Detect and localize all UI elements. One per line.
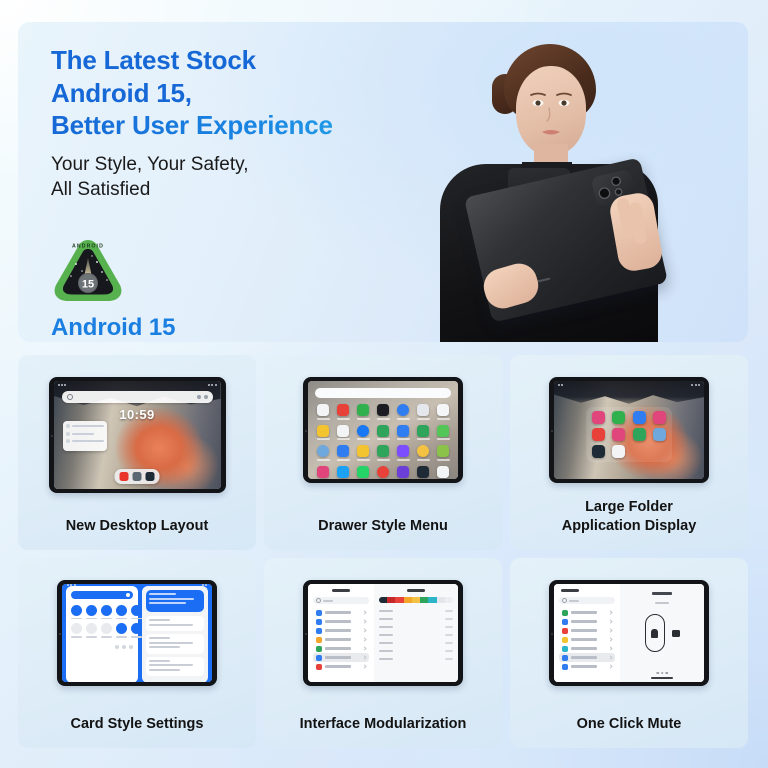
settings-sidebar-item[interactable] xyxy=(313,626,369,635)
folder-app-icon[interactable] xyxy=(633,411,646,424)
tablet-frame xyxy=(549,377,709,483)
drawer-search-bar[interactable] xyxy=(315,388,451,398)
feature-card-new-desktop-layout[interactable]: 10:59 xyxy=(18,355,256,550)
dock-icon xyxy=(120,472,129,481)
tablet-frame xyxy=(549,580,709,686)
notification-list[interactable] xyxy=(142,586,208,682)
app-label xyxy=(417,459,430,461)
app-label xyxy=(317,438,330,440)
subheadline: Your Style, Your Safety, All Satisfied xyxy=(51,152,431,202)
folder-app-icon[interactable] xyxy=(592,411,605,424)
feature-card-large-folder[interactable]: Large Folder Application Display xyxy=(510,355,748,550)
feature-card-card-style-settings[interactable]: Card Style Settings xyxy=(18,558,256,748)
row-label xyxy=(379,658,393,660)
app-label xyxy=(417,418,430,420)
home-app-row xyxy=(60,459,215,463)
tablet-screen-settings xyxy=(308,584,458,682)
settings-sidebar-item[interactable] xyxy=(559,662,615,671)
chevron-right-icon xyxy=(362,628,366,632)
app-label xyxy=(317,459,330,461)
app-icon xyxy=(317,404,329,416)
app-label xyxy=(397,418,410,420)
tablet-screen-folder xyxy=(554,381,704,479)
color-swatch-strip[interactable] xyxy=(379,597,453,603)
app-label xyxy=(337,459,350,461)
chevron-right-icon xyxy=(608,664,612,668)
settings-sidebar-item[interactable] xyxy=(559,644,615,653)
search-icon xyxy=(67,394,73,400)
drawer-app-icon[interactable] xyxy=(397,404,410,420)
drawer-app-icon[interactable] xyxy=(317,404,330,420)
promo-page: The Latest Stock Android 15, Better User… xyxy=(0,0,768,768)
tablet-screen-drawer xyxy=(308,381,458,479)
sidebar-title xyxy=(561,589,579,592)
badge-version-text: 15 xyxy=(82,279,94,291)
app-label xyxy=(337,418,350,420)
drawer-app-icon[interactable] xyxy=(417,425,430,441)
settings-sidebar-item[interactable] xyxy=(559,617,615,626)
drawer-app-icon[interactable] xyxy=(437,445,450,461)
app-label xyxy=(357,418,370,420)
settings-search-input[interactable] xyxy=(559,597,615,604)
item-label xyxy=(325,620,351,622)
app-label xyxy=(437,459,450,461)
chevron-right-icon xyxy=(608,646,612,650)
detail-title xyxy=(652,592,672,595)
item-icon xyxy=(316,619,322,625)
drawer-app-icon[interactable] xyxy=(337,445,350,461)
detail-row[interactable] xyxy=(379,607,453,615)
toggle-tile xyxy=(116,605,127,619)
settings-detail-pane xyxy=(374,584,458,682)
drawer-app-icon[interactable] xyxy=(357,445,370,461)
drawer-app-icon[interactable] xyxy=(437,404,450,420)
detail-footer-label xyxy=(651,677,673,679)
hero-photo xyxy=(388,22,748,342)
app-icon xyxy=(337,466,349,478)
status-bar xyxy=(54,381,221,389)
app-icon xyxy=(357,425,369,437)
drawer-app-icon[interactable] xyxy=(337,466,350,480)
power-icon xyxy=(122,645,126,649)
app-icon xyxy=(337,425,349,437)
notification-item[interactable] xyxy=(146,616,204,631)
drawer-app-icon[interactable] xyxy=(337,404,350,420)
app-label xyxy=(317,418,330,420)
feature-caption: Interface Modularization xyxy=(300,715,467,734)
status-bar xyxy=(554,381,704,389)
tablet-frame xyxy=(57,580,217,686)
brightness-slider[interactable] xyxy=(71,591,133,599)
notification-item[interactable] xyxy=(146,634,204,654)
folder-app-icon[interactable] xyxy=(653,428,666,441)
row-label xyxy=(379,642,393,644)
folder-app-icon[interactable] xyxy=(633,445,646,458)
detail-row[interactable] xyxy=(379,615,453,623)
item-icon xyxy=(562,619,568,625)
folder-app-icon[interactable] xyxy=(612,428,625,441)
item-icon xyxy=(316,610,322,616)
at-a-glance-widget[interactable] xyxy=(63,421,107,451)
item-label xyxy=(571,638,597,640)
toggle-tile xyxy=(101,623,112,637)
app-icon xyxy=(317,466,329,478)
item-icon xyxy=(316,664,322,670)
app-label xyxy=(357,459,370,461)
chevron-right-icon xyxy=(362,610,366,614)
dock-icon xyxy=(133,472,142,481)
app-icon xyxy=(317,445,329,457)
app-label xyxy=(377,438,390,440)
item-icon xyxy=(316,628,322,634)
color-swatch[interactable] xyxy=(404,597,412,603)
tablet-frame: 10:59 xyxy=(49,377,226,493)
drawer-app-icon[interactable] xyxy=(357,466,370,480)
drawer-app-icon[interactable] xyxy=(377,425,390,441)
app-label xyxy=(377,459,390,461)
item-label xyxy=(571,647,597,649)
item-icon xyxy=(562,655,568,661)
chevron-right-icon xyxy=(608,628,612,632)
page-indicator-dots[interactable] xyxy=(656,672,668,675)
tablet-screen-mute xyxy=(554,584,704,682)
item-label xyxy=(571,656,597,658)
drawer-app-icon[interactable] xyxy=(377,404,390,420)
shade-body xyxy=(62,586,212,682)
app-icon xyxy=(357,466,369,478)
app-icon xyxy=(377,425,389,437)
drawer-icon-grid xyxy=(314,404,452,479)
row-value xyxy=(445,618,453,620)
folder-app-icon[interactable] xyxy=(612,445,625,458)
quick-settings-panel[interactable] xyxy=(66,586,138,682)
mic-icon xyxy=(197,395,201,399)
item-label xyxy=(325,665,351,667)
detail-subtitle xyxy=(655,602,669,604)
app-icon xyxy=(357,404,369,416)
app-drawer xyxy=(308,381,458,479)
home-dock[interactable] xyxy=(115,469,160,484)
item-icon xyxy=(316,646,322,652)
chevron-right-icon xyxy=(362,646,366,650)
item-label xyxy=(325,638,351,640)
app-icon xyxy=(417,404,429,416)
feature-caption: Card Style Settings xyxy=(71,715,204,734)
feature-card-one-click-mute[interactable]: One Click Mute xyxy=(510,558,748,748)
tablet-screen-home: 10:59 xyxy=(54,381,221,489)
settings-sidebar-item[interactable] xyxy=(559,626,615,635)
app-icon xyxy=(397,466,409,478)
sidebar-title xyxy=(332,589,350,592)
folder-app-icon[interactable] xyxy=(592,445,605,458)
row-value xyxy=(445,634,453,636)
detail-row[interactable] xyxy=(379,631,453,639)
app-icon xyxy=(417,425,429,437)
badge-top-text: ANDROID xyxy=(72,244,104,250)
item-label xyxy=(571,665,597,667)
settings-sidebar-item[interactable] xyxy=(559,653,615,662)
feature-card-interface-modularization[interactable]: Interface Modularization xyxy=(264,558,502,748)
app-icon xyxy=(437,425,449,437)
drawer-app-icon[interactable] xyxy=(317,466,330,480)
android-badge-block: 15 ANDROID Android 15 xyxy=(51,238,175,342)
settings-gear-icon xyxy=(115,645,119,649)
settings-sidebar[interactable] xyxy=(308,584,374,682)
settings-sidebar-item[interactable] xyxy=(313,608,369,617)
home-search-bar[interactable] xyxy=(62,391,213,403)
settings-search-input[interactable] xyxy=(313,597,369,604)
item-label xyxy=(571,611,597,613)
toggle-tile xyxy=(86,605,97,619)
detail-title xyxy=(407,589,425,592)
item-label xyxy=(325,656,351,658)
drawer-app-icon[interactable] xyxy=(437,425,450,441)
app-label xyxy=(337,438,350,440)
row-value xyxy=(445,610,453,612)
app-icon xyxy=(337,404,349,416)
item-icon xyxy=(562,664,568,670)
toggle-tile xyxy=(86,623,97,637)
app-icon xyxy=(377,466,389,478)
settings-sidebar-item[interactable] xyxy=(313,635,369,644)
app-label xyxy=(377,418,390,420)
large-folder-grid[interactable] xyxy=(586,407,672,462)
detail-row-list xyxy=(379,607,453,663)
toggle-tile xyxy=(101,605,112,619)
item-icon xyxy=(316,655,322,661)
drawer-app-icon[interactable] xyxy=(317,445,330,461)
drawer-app-icon[interactable] xyxy=(397,425,410,441)
item-icon xyxy=(316,637,322,643)
color-swatch[interactable] xyxy=(420,597,428,603)
feature-caption-line-1: Large Folder xyxy=(562,498,697,517)
detail-row[interactable] xyxy=(379,639,453,647)
hero-text-block: The Latest Stock Android 15, Better User… xyxy=(51,44,431,202)
toggle-tile xyxy=(71,623,82,637)
hero-banner: The Latest Stock Android 15, Better User… xyxy=(18,22,748,342)
detail-row[interactable] xyxy=(379,623,453,631)
lens-icon xyxy=(204,395,208,399)
item-label xyxy=(325,611,351,613)
app-icon xyxy=(357,445,369,457)
drawer-app-icon[interactable] xyxy=(377,466,390,480)
app-icon xyxy=(437,404,449,416)
settings-sidebar-item[interactable] xyxy=(559,608,615,617)
settings-sidebar[interactable] xyxy=(554,584,620,682)
app-icon xyxy=(337,445,349,457)
tablet-frame xyxy=(303,377,463,483)
color-swatch[interactable] xyxy=(445,597,453,603)
row-value xyxy=(445,650,453,652)
settings-sidebar-item[interactable] xyxy=(559,635,615,644)
app-icon xyxy=(397,404,409,416)
item-label xyxy=(571,620,597,622)
chevron-right-icon xyxy=(362,664,366,668)
mute-detail-pane xyxy=(620,584,704,682)
clock-widget: 10:59 xyxy=(119,407,154,422)
item-icon xyxy=(562,628,568,634)
feature-caption: One Click Mute xyxy=(577,715,682,734)
toggle-tile xyxy=(116,623,127,637)
drawer-app-icon[interactable] xyxy=(357,425,370,441)
color-swatch[interactable] xyxy=(437,597,445,603)
row-value xyxy=(445,658,453,660)
app-label xyxy=(397,459,410,461)
row-label xyxy=(379,610,393,612)
drawer-app-icon[interactable] xyxy=(337,425,350,441)
sidebar-list xyxy=(559,608,615,671)
app-icon xyxy=(317,425,329,437)
app-icon xyxy=(417,466,429,478)
headline-line-1: The Latest Stock xyxy=(51,44,431,77)
feature-caption: Drawer Style Menu xyxy=(318,517,448,536)
drawer-app-icon[interactable] xyxy=(417,466,430,480)
settings-sidebar-item[interactable] xyxy=(313,617,369,626)
feature-caption: New Desktop Layout xyxy=(66,517,209,536)
app-label xyxy=(397,438,410,440)
color-swatch[interactable] xyxy=(412,597,420,603)
detail-row[interactable] xyxy=(379,655,453,663)
item-icon xyxy=(562,646,568,652)
app-icon xyxy=(397,445,409,457)
settings-sidebar-item[interactable] xyxy=(313,662,369,671)
detail-row[interactable] xyxy=(379,647,453,655)
drawer-app-icon[interactable] xyxy=(437,466,450,480)
item-icon xyxy=(562,610,568,616)
android-15-label: Android 15 xyxy=(51,314,175,342)
drawer-app-icon[interactable] xyxy=(357,404,370,420)
subheadline-line-2: All Satisfied xyxy=(51,177,431,202)
face xyxy=(516,66,586,156)
row-label xyxy=(379,650,393,652)
color-swatch[interactable] xyxy=(395,597,403,603)
headline-line-3: Better User Experience xyxy=(51,109,431,142)
feature-grid: 10:59 xyxy=(18,355,750,748)
row-label xyxy=(379,626,393,628)
app-icon xyxy=(437,466,449,478)
drawer-app-icon[interactable] xyxy=(317,425,330,441)
settings-sidebar-item[interactable] xyxy=(313,653,369,662)
folder-app-icon[interactable] xyxy=(592,428,605,441)
chevron-right-icon xyxy=(608,619,612,623)
color-swatch[interactable] xyxy=(428,597,436,603)
folder-app-icon[interactable] xyxy=(653,411,666,424)
chevron-right-icon xyxy=(608,610,612,614)
android-15-badge-icon: 15 ANDROID xyxy=(51,238,125,304)
item-label xyxy=(571,629,597,631)
subheadline-line-1: Your Style, Your Safety, xyxy=(51,152,431,177)
row-value xyxy=(445,642,453,644)
feature-card-drawer-style-menu[interactable]: Drawer Style Menu xyxy=(264,355,502,550)
app-icon xyxy=(377,404,389,416)
tablet-screen-quick-settings xyxy=(62,584,212,682)
app-label xyxy=(357,438,370,440)
speaker-off-icon xyxy=(672,630,680,637)
settings-two-pane xyxy=(308,584,458,682)
app-label xyxy=(437,418,450,420)
row-value xyxy=(445,626,453,628)
chevron-right-icon xyxy=(362,637,366,641)
toggle-tile xyxy=(131,605,142,619)
sidebar-list xyxy=(313,608,369,671)
chevron-right-icon xyxy=(362,655,366,659)
tablet-frame xyxy=(303,580,463,686)
toggle-tile xyxy=(71,605,82,619)
chevron-right-icon xyxy=(362,619,366,623)
drawer-app-icon[interactable] xyxy=(377,445,390,461)
item-icon xyxy=(562,637,568,643)
quick-settings-shade xyxy=(62,584,212,682)
app-label xyxy=(437,438,450,440)
feature-caption-line-2: Application Display xyxy=(562,517,697,536)
app-icon xyxy=(437,445,449,457)
dock-icon xyxy=(146,472,155,481)
app-icon xyxy=(417,445,429,457)
app-icon xyxy=(397,425,409,437)
item-label xyxy=(325,629,351,631)
app-label xyxy=(417,438,430,440)
mute-device-icon xyxy=(645,614,665,652)
panel-footer-actions[interactable] xyxy=(71,645,133,649)
drawer-app-icon[interactable] xyxy=(397,466,410,480)
app-icon xyxy=(377,445,389,457)
item-label xyxy=(325,647,351,649)
row-label xyxy=(379,634,393,636)
settings-sidebar-item[interactable] xyxy=(313,644,369,653)
folder-app-icon[interactable] xyxy=(633,428,646,441)
settings-two-pane xyxy=(554,584,704,682)
drawer-app-icon[interactable] xyxy=(417,445,430,461)
drawer-app-icon[interactable] xyxy=(417,404,430,420)
row-label xyxy=(379,618,393,620)
folder-app-icon[interactable] xyxy=(653,445,666,458)
highlighted-notification[interactable] xyxy=(146,590,204,612)
color-swatch[interactable] xyxy=(387,597,395,603)
toggle-grid xyxy=(71,605,133,638)
notification-item[interactable] xyxy=(146,657,204,677)
headline-line-2: Android 15, xyxy=(51,77,431,110)
toggle-tile xyxy=(131,623,142,637)
chevron-right-icon xyxy=(608,655,612,659)
drawer-app-icon[interactable] xyxy=(397,445,410,461)
folder-app-icon[interactable] xyxy=(612,411,625,424)
feature-caption: Large Folder Application Display xyxy=(562,498,697,536)
color-swatch[interactable] xyxy=(379,597,387,603)
edit-icon xyxy=(129,645,133,649)
chevron-right-icon xyxy=(608,637,612,641)
